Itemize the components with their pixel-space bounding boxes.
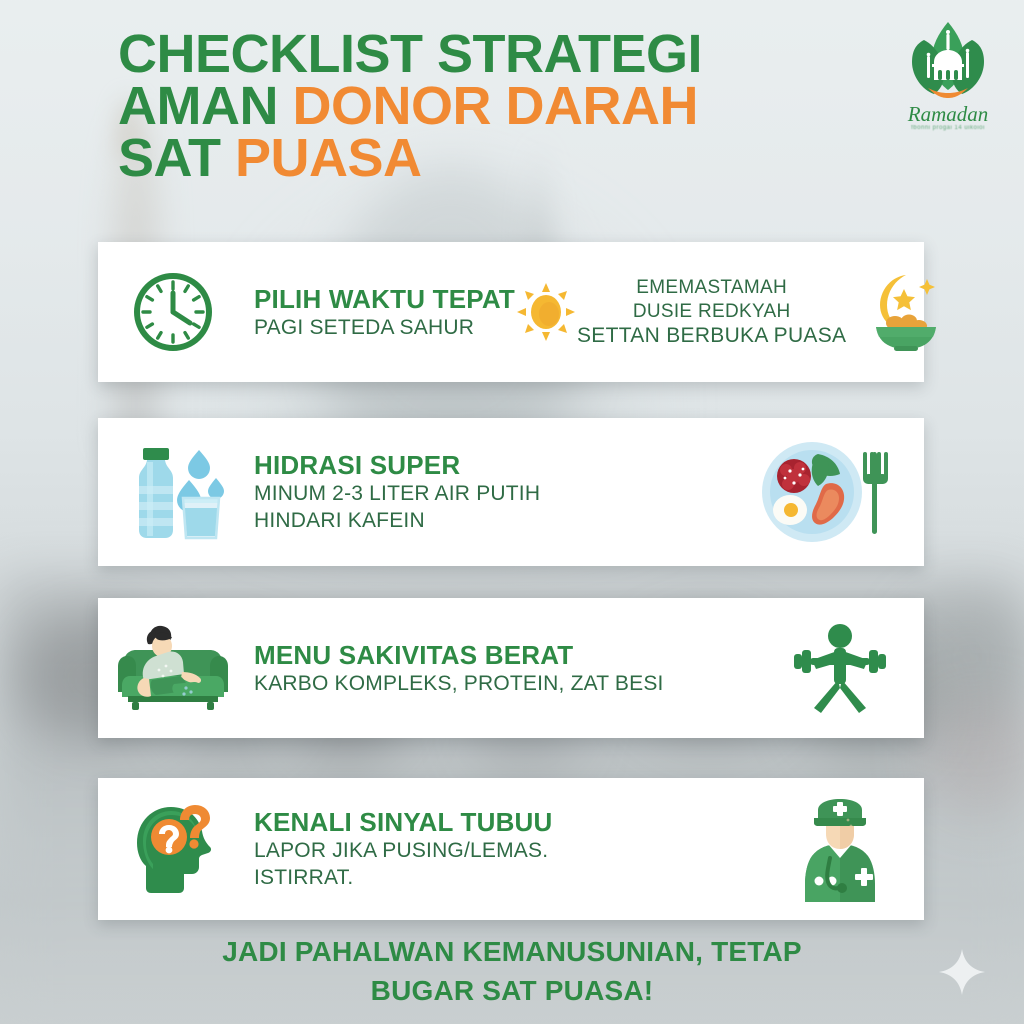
card-1-subtitle: PAGI SETEDA SAHUR: [254, 314, 515, 341]
card-2-subtitle-line-1: MINUM 2-3 LITER AIR PUTIH: [254, 480, 760, 507]
card-4-title: KENALI SINYAL TUBUU: [254, 807, 790, 837]
checklist-card-4[interactable]: KENALI SINYAL TUBUU LAPOR JIKA PUSING/LE…: [98, 778, 924, 920]
clock-icon: [130, 269, 216, 355]
infographic-poster: CHECKLIST STRATEGI AMAN DONOR DARAH SAT …: [0, 0, 1024, 1024]
card-4-right-icon-slot: [790, 796, 924, 902]
card-2-body: HIDRASI SUPER MINUM 2-3 LITER AIR PUTIH …: [248, 450, 760, 534]
card-3-subtitle: KARBO KOMPLEKS, PROTEIN, ZAT BESI: [254, 670, 790, 697]
medical-worker-icon: [790, 796, 890, 902]
title-line-2-green-text: AMAN: [118, 76, 292, 136]
card-2-subtitle-line-2: HINDARI KAFEIN: [254, 507, 760, 534]
card-1-extra-line-3: SETTAN BERBUKA PUASA: [577, 324, 846, 348]
card-1-body: PILIH WAKTU TEPAT PAGI SETEDA SAHUR: [248, 284, 515, 341]
checklist-card-3[interactable]: MENU SAKIVITAS BERAT KARBO KOMPLEKS, PRO…: [98, 598, 924, 738]
card-2-right-icon-slot: [760, 440, 924, 545]
checklist-card-2[interactable]: HIDRASI SUPER MINUM 2-3 LITER AIR PUTIH …: [98, 418, 924, 566]
title-line-3-green-text: SAT: [118, 128, 235, 188]
food-plate-fork-icon: [760, 440, 890, 545]
checklist-card-1[interactable]: PILIH WAKTU TEPAT PAGI SETEDA SAHUR: [98, 242, 924, 382]
crescent-moon-bowl-icon: [864, 271, 944, 353]
card-1-extra-text: EMEMASTAMAH DUSIE REDKYAH SETTAN BERBUKA…: [577, 276, 846, 348]
poster-title: CHECKLIST STRATEGI AMAN DONOR DARAH SAT …: [118, 28, 888, 184]
title-line-1: CHECKLIST STRATEGI: [118, 28, 888, 80]
card-1-icon-slot: [98, 269, 248, 355]
sun-icon: [515, 281, 577, 343]
card-1-extra-block: EMEMASTAMAH DUSIE REDKYAH SETTAN BERBUKA…: [515, 276, 864, 348]
title-line-3-orange-text: PUASA: [235, 128, 422, 188]
title-line-2-orange-text: DONOR DARAH: [292, 76, 698, 136]
title-line-3: SAT PUASA: [118, 132, 888, 184]
footer-line-2: BUGAR SAT PUASA!: [0, 971, 1024, 1010]
footer-line-1: JADI PAHALWAN KEMANUSUNIAN, TETAP: [0, 932, 1024, 971]
title-line-1-text: CHECKLIST STRATEGI: [118, 24, 702, 84]
logo-wordmark: Ramadan: [888, 104, 1008, 124]
card-3-right-icon-slot: [790, 622, 924, 714]
weightlifter-icon: [790, 622, 890, 714]
mosque-lotus-icon: [888, 18, 1008, 106]
card-4-subtitle-line-2: ISTIRRAT.: [254, 864, 790, 891]
card-2-title: HIDRASI SUPER: [254, 450, 760, 480]
person-on-sofa-icon: [114, 622, 232, 714]
card-3-title: MENU SAKIVITAS BERAT: [254, 640, 790, 670]
card-3-icon-slot: [98, 622, 248, 714]
card-1-right-icon-slot: [864, 271, 978, 353]
head-question-mark-icon: [123, 797, 223, 901]
four-point-star-icon: [938, 948, 986, 996]
card-1-title: PILIH WAKTU TEPAT: [254, 284, 515, 314]
ramadan-logo: Ramadan fbonni progai 14 uikoioi: [888, 18, 1008, 143]
card-1-extra-line-2: DUSIE REDKYAH: [577, 300, 846, 324]
card-4-icon-slot: [98, 797, 248, 901]
card-4-subtitle-line-1: LAPOR JIKA PUSING/LEMAS.: [254, 837, 790, 864]
title-line-2: AMAN DONOR DARAH: [118, 80, 888, 132]
logo-subtitle: fbonni progai 14 uikoioi: [888, 125, 1008, 131]
card-4-body: KENALI SINYAL TUBUU LAPOR JIKA PUSING/LE…: [248, 807, 790, 891]
card-1-extra-line-1: EMEMASTAMAH: [577, 276, 846, 300]
card-2-icon-slot: [98, 436, 248, 548]
card-3-body: MENU SAKIVITAS BERAT KARBO KOMPLEKS, PRO…: [248, 640, 790, 697]
water-bottle-icon: [117, 436, 229, 548]
poster-footer: JADI PAHALWAN KEMANUSUNIAN, TETAP BUGAR …: [0, 932, 1024, 1010]
